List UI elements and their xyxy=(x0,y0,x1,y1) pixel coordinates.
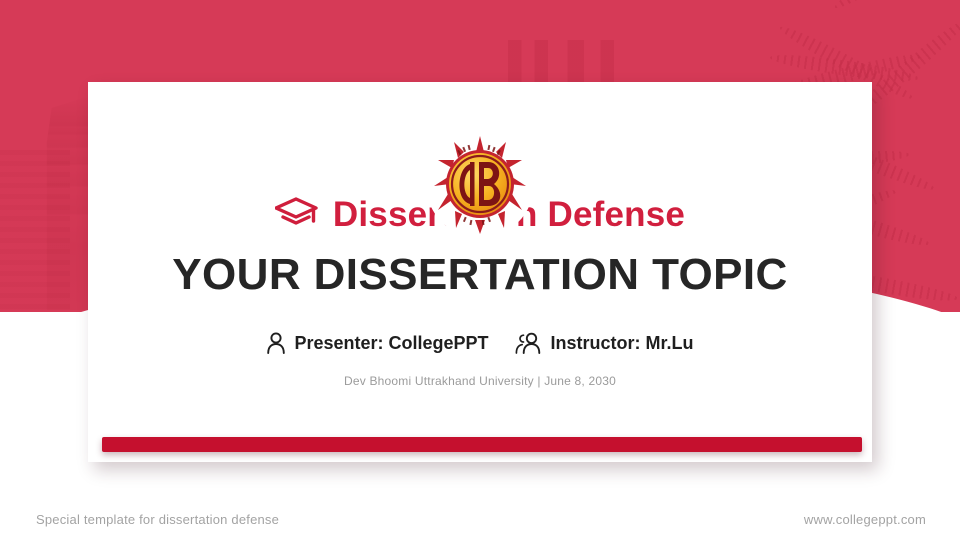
university-emblem-icon xyxy=(426,130,534,238)
people-row: Presenter: CollegePPT Instructor: Mr.Lu xyxy=(88,332,872,354)
presenter-label: Presenter: CollegePPT xyxy=(294,334,488,352)
instructor-item: Instructor: Mr.Lu xyxy=(515,332,694,354)
graduation-cap-icon xyxy=(275,197,319,231)
people-icon xyxy=(515,332,543,354)
university-and-date: Dev Bhoomi Uttrakhand University | June … xyxy=(88,374,872,388)
university-logo xyxy=(426,130,534,238)
presenter-item: Presenter: CollegePPT xyxy=(266,332,488,354)
accent-bar xyxy=(102,437,862,452)
footer-left-text: Special template for dissertation defens… xyxy=(36,512,279,527)
slide-title: YOUR DISSERTATION TOPIC xyxy=(88,252,872,298)
footer-right-url: www.collegeppt.com xyxy=(804,512,926,527)
slide-canvas: Dissertation Defense YOUR DISSERTATION T… xyxy=(0,0,960,540)
background-building-secondary xyxy=(0,150,70,310)
person-icon xyxy=(266,332,286,354)
instructor-label: Instructor: Mr.Lu xyxy=(551,334,694,352)
title-card: Dissertation Defense YOUR DISSERTATION T… xyxy=(88,82,872,462)
